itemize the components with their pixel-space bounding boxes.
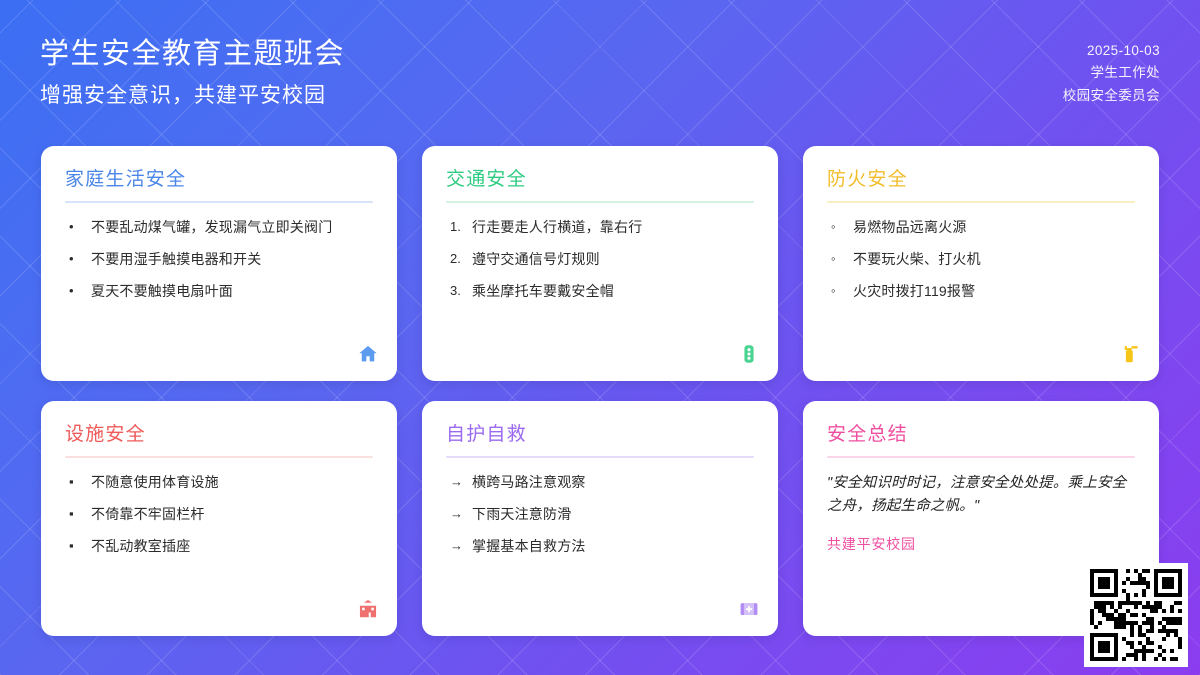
summary-quote: "安全知识时时记，注意安全处处提。乘上安全之舟，扬起生命之帆。" [827, 472, 1135, 519]
list-bullet: ◦ [831, 281, 851, 302]
list-item: ◦不要玩火柴、打火机 [827, 249, 1135, 270]
list-item: →横跨马路注意观察 [446, 472, 754, 493]
card-title: 设施安全 [65, 423, 373, 456]
list-item: →掌握基本自救方法 [446, 536, 754, 557]
card-list: ◦易燃物品远离火源◦不要玩火柴、打火机◦火灾时拨打119报警 [827, 217, 1135, 302]
meta-date: 2025-10-03 [1063, 40, 1160, 62]
list-bullet: → [450, 536, 470, 557]
meta-department: 学生工作处 [1063, 62, 1160, 84]
list-item-text: 不要乱动煤气罐，发现漏气立即关阀门 [91, 219, 332, 235]
list-item-text: 行走要走人行横道，靠右行 [472, 219, 642, 235]
card-fire-safety[interactable]: 防火安全◦易燃物品远离火源◦不要玩火柴、打火机◦火灾时拨打119报警 [803, 146, 1159, 381]
school-building-icon [357, 598, 379, 620]
list-bullet: 3. [450, 281, 470, 302]
list-bullet: ▪ [69, 472, 89, 493]
list-bullet: • [69, 281, 89, 302]
list-item: ▪不倚靠不牢固栏杆 [65, 504, 373, 525]
list-item: 1.行走要走人行横道，靠右行 [446, 217, 754, 238]
list-item: 2.遵守交通信号灯规则 [446, 249, 754, 270]
list-item-text: 不倚靠不牢固栏杆 [91, 506, 205, 522]
list-item: ◦火灾时拨打119报警 [827, 281, 1135, 302]
list-item: →下雨天注意防滑 [446, 504, 754, 525]
list-item: ▪不随意使用体育设施 [65, 472, 373, 493]
list-item-text: 火灾时拨打119报警 [853, 283, 975, 299]
fire-extinguisher-icon [1119, 343, 1141, 365]
card-home-life-safety[interactable]: 家庭生活安全•不要乱动煤气罐，发现漏气立即关阀门•不要用湿手触摸电器和开关•夏天… [41, 146, 397, 381]
card-divider [65, 201, 373, 203]
list-bullet: 2. [450, 249, 470, 270]
list-item-text: 乘坐摩托车要戴安全帽 [472, 283, 614, 299]
first-aid-kit-icon [738, 598, 760, 620]
list-item-text: 夏天不要触摸电扇叶面 [91, 283, 233, 299]
card-self-protection[interactable]: 自护自救→横跨马路注意观察→下雨天注意防滑→掌握基本自救方法 [422, 401, 778, 636]
header-meta: 2025-10-03 学生工作处 校园安全委员会 [1063, 0, 1160, 107]
card-divider [65, 456, 373, 458]
card-list: →横跨马路注意观察→下雨天注意防滑→掌握基本自救方法 [446, 472, 754, 557]
card-traffic-safety[interactable]: 交通安全1.行走要走人行横道，靠右行2.遵守交通信号灯规则3.乘坐摩托车要戴安全… [422, 146, 778, 381]
list-item-text: 横跨马路注意观察 [472, 474, 586, 490]
card-title: 自护自救 [446, 423, 754, 456]
card-divider [827, 201, 1135, 203]
list-bullet: → [450, 472, 470, 493]
list-item-text: 遵守交通信号灯规则 [472, 251, 600, 267]
list-item: •不要用湿手触摸电器和开关 [65, 249, 373, 270]
traffic-light-icon [738, 343, 760, 365]
list-item-text: 不乱动教室插座 [91, 538, 190, 554]
list-item-text: 不随意使用体育设施 [91, 474, 219, 490]
list-item: ◦易燃物品远离火源 [827, 217, 1135, 238]
list-item-text: 不要用湿手触摸电器和开关 [91, 251, 261, 267]
card-title: 家庭生活安全 [65, 168, 373, 201]
qr-code-image [1090, 569, 1182, 661]
card-grid: 家庭生活安全•不要乱动煤气罐，发现漏气立即关阀门•不要用湿手触摸电器和开关•夏天… [41, 146, 1159, 636]
page-subtitle: 增强安全意识，共建平安校园 [40, 82, 345, 109]
list-bullet: ▪ [69, 504, 89, 525]
card-list: ▪不随意使用体育设施▪不倚靠不牢固栏杆▪不乱动教室插座 [65, 472, 373, 557]
qr-code[interactable] [1084, 563, 1188, 667]
card-divider [827, 456, 1135, 458]
card-divider [446, 456, 754, 458]
list-item: 3.乘坐摩托车要戴安全帽 [446, 281, 754, 302]
list-bullet: ◦ [831, 217, 851, 238]
list-item: •不要乱动煤气罐，发现漏气立即关阀门 [65, 217, 373, 238]
card-title: 安全总结 [827, 423, 1135, 456]
meta-committee: 校园安全委员会 [1063, 85, 1160, 107]
card-facility-safety[interactable]: 设施安全▪不随意使用体育设施▪不倚靠不牢固栏杆▪不乱动教室插座 [41, 401, 397, 636]
slide-header: 学生安全教育主题班会 增强安全意识，共建平安校园 2025-10-03 学生工作… [0, 0, 1200, 132]
list-bullet: • [69, 249, 89, 270]
card-divider [446, 201, 754, 203]
list-item: ▪不乱动教室插座 [65, 536, 373, 557]
list-bullet: ◦ [831, 249, 851, 270]
page-title: 学生安全教育主题班会 [40, 36, 345, 73]
list-item-text: 不要玩火柴、打火机 [853, 251, 981, 267]
list-item: •夏天不要触摸电扇叶面 [65, 281, 373, 302]
list-item-text: 易燃物品远离火源 [853, 219, 967, 235]
list-item-text: 下雨天注意防滑 [472, 506, 571, 522]
list-bullet: • [69, 217, 89, 238]
summary-tagline: 共建平安校园 [827, 534, 1135, 554]
list-bullet: 1. [450, 217, 470, 238]
list-bullet: ▪ [69, 536, 89, 557]
list-item-text: 掌握基本自救方法 [472, 538, 586, 554]
card-title: 交通安全 [446, 168, 754, 201]
slide-root: 学生安全教育主题班会 增强安全意识，共建平安校园 2025-10-03 学生工作… [0, 0, 1200, 675]
card-title: 防火安全 [827, 168, 1135, 201]
list-bullet: → [450, 504, 470, 525]
house-icon [357, 343, 379, 365]
header-left: 学生安全教育主题班会 增强安全意识，共建平安校园 [40, 0, 345, 109]
card-list: •不要乱动煤气罐，发现漏气立即关阀门•不要用湿手触摸电器和开关•夏天不要触摸电扇… [65, 217, 373, 302]
card-list: 1.行走要走人行横道，靠右行2.遵守交通信号灯规则3.乘坐摩托车要戴安全帽 [446, 217, 754, 302]
